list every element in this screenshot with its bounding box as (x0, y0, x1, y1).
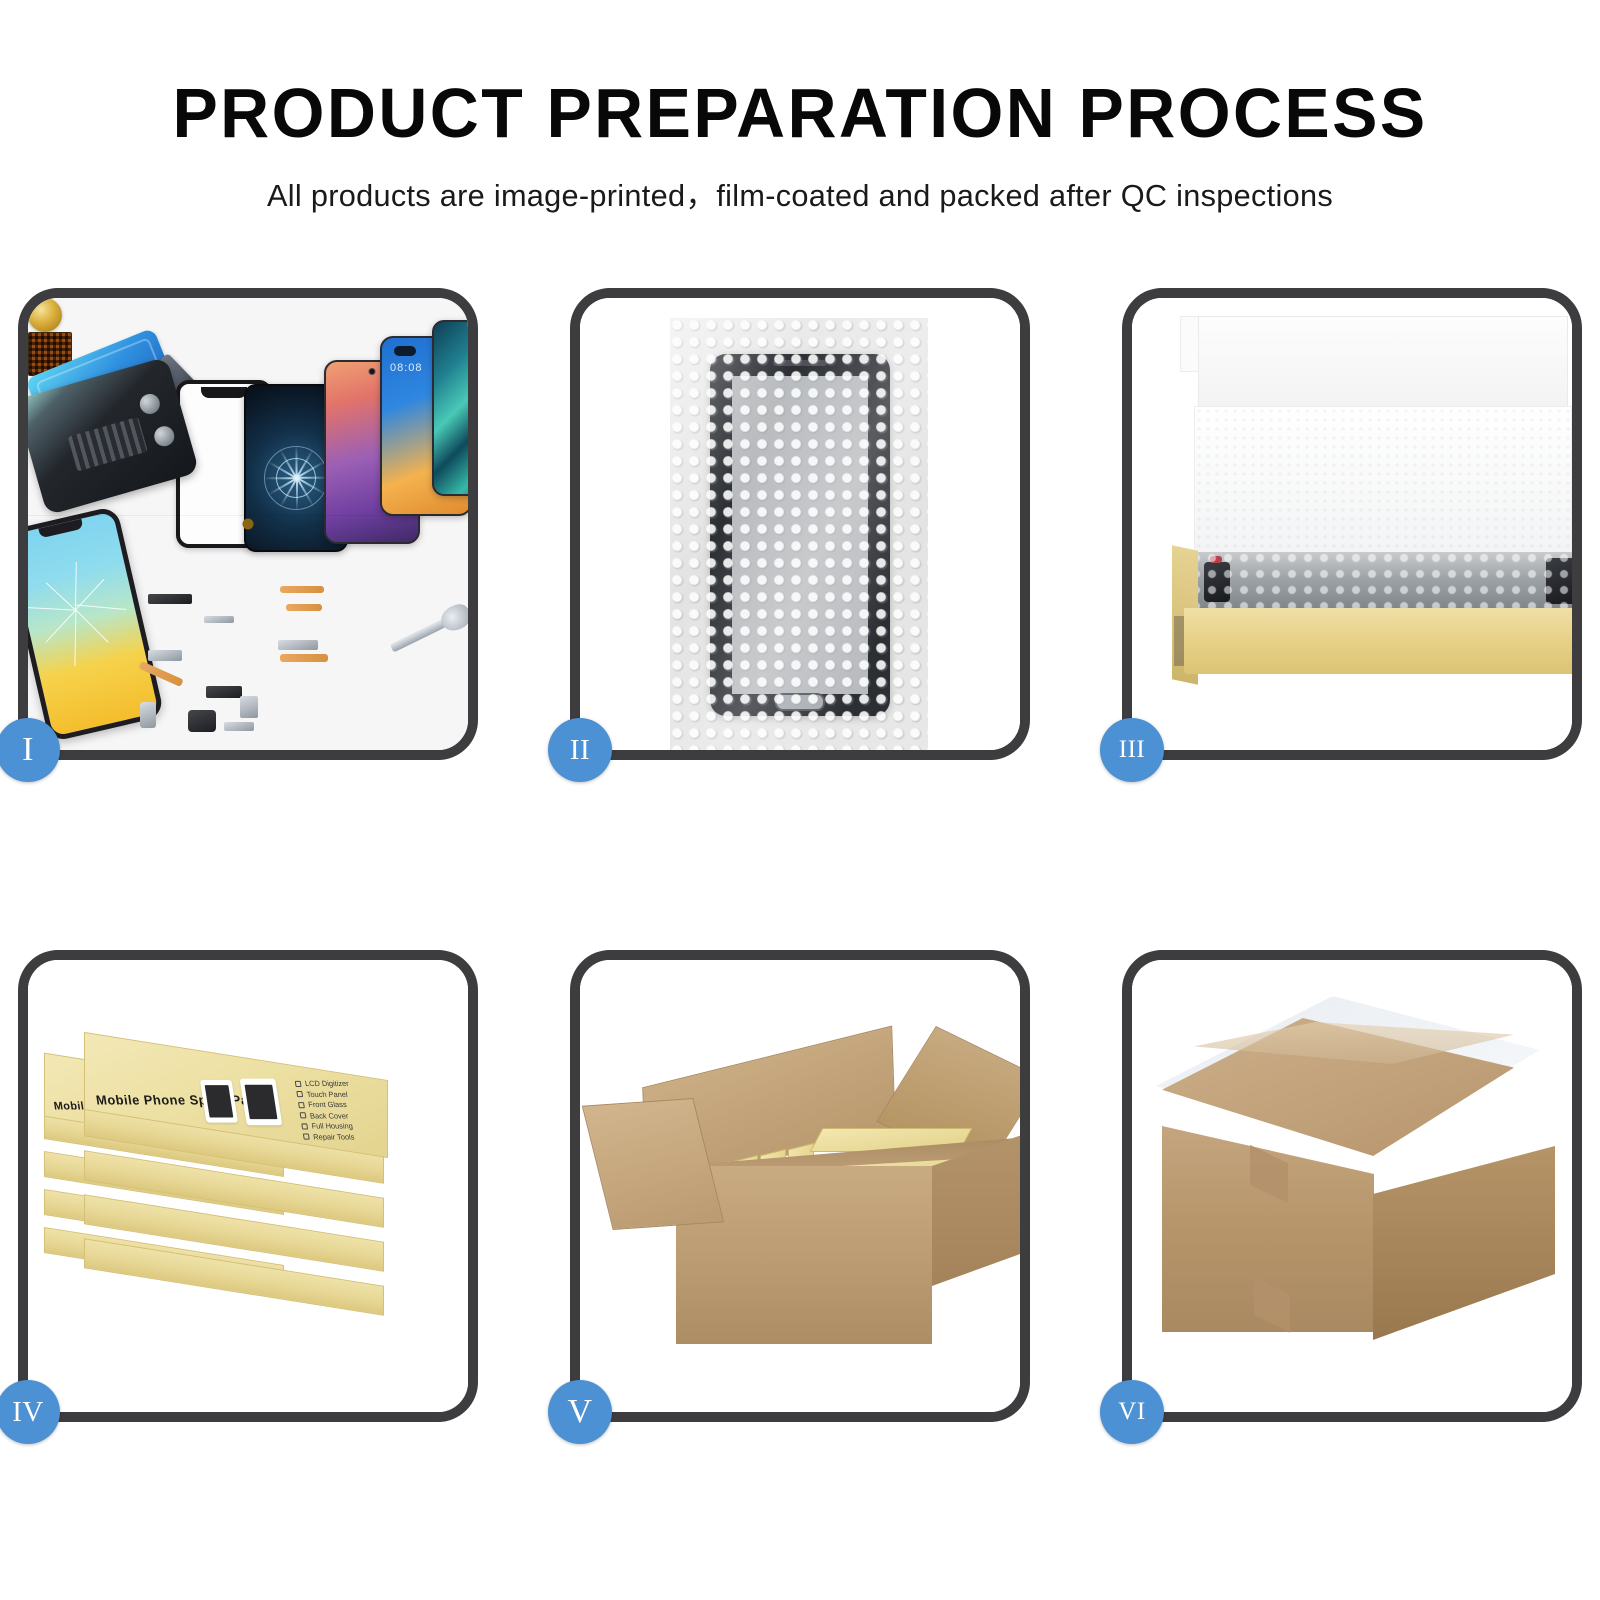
box-checklist-right: LCD Digitizer Touch Panel Front Glass Ba… (294, 1079, 357, 1143)
step-image-4: Mobile Phone Spare Parts LCD Digitizer T… (28, 960, 468, 1412)
carton-right-face (1373, 1146, 1555, 1340)
packed-screen (1190, 552, 1572, 612)
ic-chip-small (206, 686, 242, 698)
flex-cable-a (280, 586, 324, 593)
bubble-wrap-scene (580, 298, 1020, 750)
step-badge-2: II (548, 718, 612, 782)
flex-cable-d (280, 654, 328, 662)
step-image-3 (1132, 298, 1572, 750)
notch-cutout (201, 387, 247, 398)
step-card-1: 08:08 (18, 288, 478, 760)
cleaning-brush (386, 599, 468, 664)
box-phone-image-2 (240, 1079, 283, 1126)
sealed-carton-scene (1132, 960, 1572, 1412)
checkbox-icon (295, 1080, 302, 1086)
metal-bracket-c (224, 722, 254, 731)
step-card-2: II (570, 288, 1030, 760)
checkbox-icon (300, 1112, 307, 1118)
checkbox-icon (296, 1091, 303, 1097)
bubble-texture (670, 318, 928, 750)
step-badge-1: I (0, 718, 60, 782)
sim-tray (140, 702, 156, 728)
stacked-boxes-scene: Mobile Phone Spare Parts LCD Digitizer T… (28, 960, 468, 1412)
checklist-item: Back Cover (299, 1111, 354, 1120)
parts-flatlay-scene: 08:08 (28, 298, 468, 750)
notch-cutout (38, 519, 83, 539)
step-card-6: VI (1122, 950, 1582, 1422)
step-badge-5: V (548, 1380, 612, 1444)
checkbox-icon (298, 1102, 305, 1108)
step-card-4: Mobile Phone Spare Parts LCD Digitizer T… (18, 950, 478, 1422)
open-carton-scene (580, 960, 1020, 1412)
speaker-module (188, 710, 216, 732)
teal-display-panel (432, 320, 468, 496)
checkbox-icon (301, 1123, 308, 1129)
step-badge-4: IV (0, 1380, 60, 1444)
checkbox-icon (303, 1134, 310, 1140)
bubble-texture (1190, 552, 1572, 612)
step-image-5 (580, 960, 1020, 1412)
battery-pack (68, 417, 148, 472)
checklist-item: Repair Tools (303, 1132, 358, 1141)
punch-hole-camera (394, 346, 416, 356)
step-card-5: V (570, 950, 1030, 1422)
metal-bracket-a (204, 616, 234, 623)
camera-lens-1 (138, 392, 163, 417)
bubble-wrap-sheet (670, 318, 928, 750)
brush-handle (390, 619, 446, 653)
vibration-motor (240, 696, 258, 718)
box-phone-image-1 (200, 1080, 238, 1123)
step-image-6 (1132, 960, 1572, 1412)
earpiece-mesh (148, 594, 192, 604)
front-camera-dot (369, 368, 376, 375)
step-badge-6: VI (1100, 1380, 1164, 1444)
camera-lens-2 (152, 424, 177, 449)
page-subtitle: All products are image-printed，film-coat… (8, 170, 1592, 215)
checklist-item: Front Glass (298, 1100, 353, 1109)
metal-bracket-b (148, 650, 182, 661)
open-mailer-scene (1132, 298, 1572, 750)
mailer-front-wall (1184, 608, 1572, 674)
step-image-1: 08:08 (28, 298, 468, 750)
step-image-2 (580, 298, 1020, 750)
step-card-3: III (1122, 288, 1582, 760)
phone-clock-label: 08:08 (390, 362, 423, 374)
header: PRODUCT PREPARATION PROCESS All products… (0, 0, 1600, 215)
checklist-item: Touch Panel (296, 1090, 351, 1099)
crack-star (263, 445, 329, 511)
brush-tip (437, 600, 468, 635)
flex-cable-b (286, 604, 322, 611)
process-step-grid: 08:08 (18, 288, 1582, 1463)
checklist-item: LCD Digitizer (294, 1079, 349, 1088)
box-stack-right: Mobile Phone Spare Parts LCD Digitizer T… (84, 1012, 414, 1342)
foam-insert (1194, 406, 1572, 554)
checklist-item: Full Housing (301, 1121, 356, 1130)
step-badge-3: III (1100, 718, 1164, 782)
infographic-page: PRODUCT PREPARATION PROCESS All products… (0, 0, 1600, 1600)
volume-button-flex (278, 640, 318, 650)
page-title: PRODUCT PREPARATION PROCESS (24, 78, 1576, 148)
wireless-charging-coil (28, 298, 62, 332)
